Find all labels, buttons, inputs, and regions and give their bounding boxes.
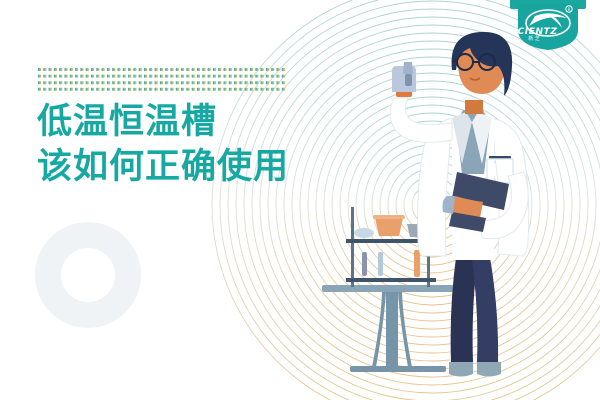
raised-arm bbox=[390, 62, 452, 142]
bottom-watermark: · · · · · · · · · · · · · · · · bbox=[0, 391, 600, 398]
dot-matrix bbox=[38, 68, 286, 94]
scientist-illustration bbox=[0, 0, 600, 400]
lower-arm bbox=[443, 172, 529, 239]
tray bbox=[407, 224, 432, 237]
headline-line-2: 该如何正确使用 bbox=[37, 145, 357, 190]
shoe-right bbox=[477, 362, 501, 377]
forearm bbox=[452, 196, 483, 218]
neck bbox=[465, 100, 483, 114]
shoe-left bbox=[449, 362, 473, 377]
logo-sub-wordmark: 新 芝 bbox=[502, 36, 566, 42]
scientz-logo[interactable]: R SCIENTZ 新 芝 bbox=[502, 0, 594, 52]
lab-rack bbox=[346, 207, 436, 287]
test-tube-2 bbox=[378, 252, 383, 276]
lab-coat bbox=[418, 110, 529, 260]
flask-in-hand bbox=[403, 62, 413, 74]
glasses-icon bbox=[452, 54, 495, 70]
sleeve-cuff bbox=[396, 90, 412, 97]
svg-text:R: R bbox=[568, 7, 571, 12]
figure-legs bbox=[449, 250, 501, 377]
test-tube-1 bbox=[362, 252, 367, 276]
face bbox=[458, 36, 505, 94]
headline-line-1: 低温恒温槽 bbox=[37, 100, 357, 145]
glove bbox=[392, 66, 416, 92]
poster-canvas: 低温恒温槽 该如何正确使用 bbox=[0, 0, 600, 400]
beaker bbox=[375, 218, 403, 236]
shirt bbox=[456, 110, 490, 174]
clipboard bbox=[452, 172, 509, 210]
concentric-arcs bbox=[0, 0, 600, 400]
test-tube-3 bbox=[414, 250, 420, 277]
page-title: 低温恒温槽 该如何正确使用 bbox=[37, 100, 357, 190]
mouth bbox=[470, 78, 480, 80]
ring-decoration bbox=[35, 222, 141, 328]
hand bbox=[449, 212, 486, 232]
lab-table bbox=[322, 285, 462, 372]
petri-dish bbox=[354, 228, 374, 238]
